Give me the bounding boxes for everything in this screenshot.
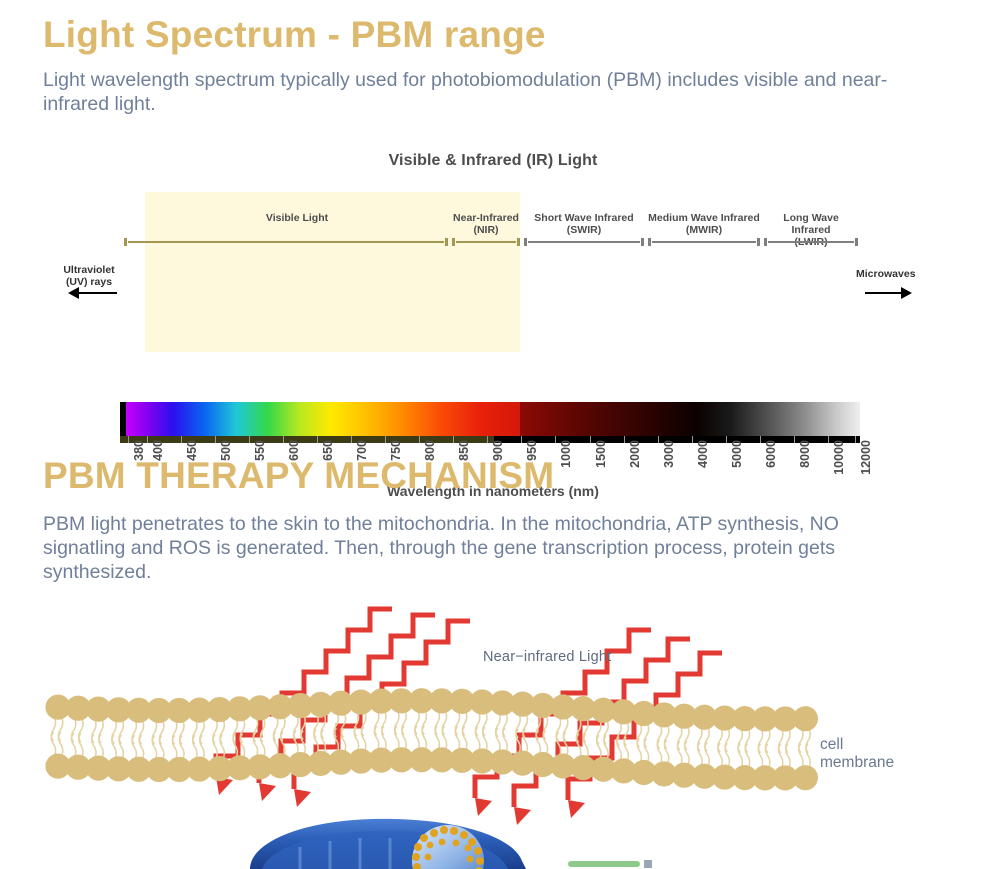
band-name-visible: Visible Light (266, 212, 328, 224)
tick-label: 12000 (859, 440, 873, 475)
band-name-nir: Near-Infrared (453, 212, 519, 224)
tick-label: 5000 (730, 440, 744, 468)
band-label-swir: Short Wave Infrared (SWIR) (524, 212, 644, 236)
intro-paragraph: Light wavelength spectrum typically used… (43, 68, 903, 116)
band-label-visible: Visible Light (146, 212, 448, 224)
microwaves-arrow-right-icon (901, 287, 912, 299)
band-extent-nir (452, 240, 520, 244)
mechanism-paragraph: PBM light penetrates to the skin to the … (43, 512, 903, 584)
pbm-mechanism-figure (0, 595, 986, 869)
tick-label: 1500 (594, 440, 608, 468)
band-abbr-nir: (NIR) (473, 224, 498, 236)
tick-label: 10000 (832, 440, 846, 475)
green-marker (568, 860, 652, 868)
band-abbr-swir: (SWIR) (567, 224, 601, 236)
uv-label-line1: Ultraviolet (63, 264, 114, 276)
tick-label: 2000 (628, 440, 642, 468)
spectrum-seg-infrared (520, 402, 860, 436)
tick-label: 8000 (798, 440, 812, 468)
band-label-mwir: Medium Wave Infrared (MWIR) (648, 212, 760, 236)
ultraviolet-label: Ultraviolet (UV) rays (56, 264, 122, 288)
band-extent-lwir (764, 240, 858, 244)
band-name-mwir: Medium Wave Infrared (648, 212, 760, 224)
uv-arrow-shaft (79, 292, 117, 294)
microwaves-label: Microwaves (856, 268, 932, 280)
band-name-swir: Short Wave Infrared (534, 212, 633, 224)
band-abbr-mwir: (MWIR) (686, 224, 722, 236)
mitochondrion (250, 819, 526, 869)
band-name-lwir: Long Wave Infrared (783, 212, 839, 236)
spectrum-figure: Visible & Infrared (IR) Light Visible Li… (0, 140, 986, 370)
band-extent-swir (524, 240, 644, 244)
page-title-pbm-mechanism: PBM THERAPY MECHANISM (43, 455, 554, 497)
cell-membrane-label-line1: cell (820, 736, 843, 753)
band-extent-visible (124, 240, 448, 244)
cell-membrane-label: cell membrane (820, 736, 894, 772)
band-extent-mwir (648, 240, 760, 244)
near-infrared-light-label: Near−infrared Light (483, 649, 611, 665)
page-title-light-spectrum: Light Spectrum - PBM range (43, 14, 546, 56)
mechanism-illustration (0, 595, 986, 869)
microwaves-arrow-shaft (865, 292, 903, 294)
tick-label: 4000 (696, 440, 710, 468)
band-label-nir: Near-Infrared (NIR) (452, 212, 520, 236)
page-root: Light Spectrum - PBM range Light wavelen… (0, 0, 986, 869)
tick-label: 1000 (559, 440, 573, 468)
cell-membrane-label-line2: membrane (820, 754, 894, 771)
tick-label: 3000 (662, 440, 676, 468)
nir-light-rays (216, 609, 722, 807)
spectrum-gradient-bar (120, 402, 860, 436)
uv-arrow-left-icon (68, 287, 79, 299)
spectrum-seg-visible (126, 402, 520, 436)
spectrum-chart-title: Visible & Infrared (IR) Light (0, 152, 986, 170)
band-label-row: Visible Light Near-Infrared (NIR) Short … (0, 212, 986, 252)
tick-label: 6000 (764, 440, 778, 468)
